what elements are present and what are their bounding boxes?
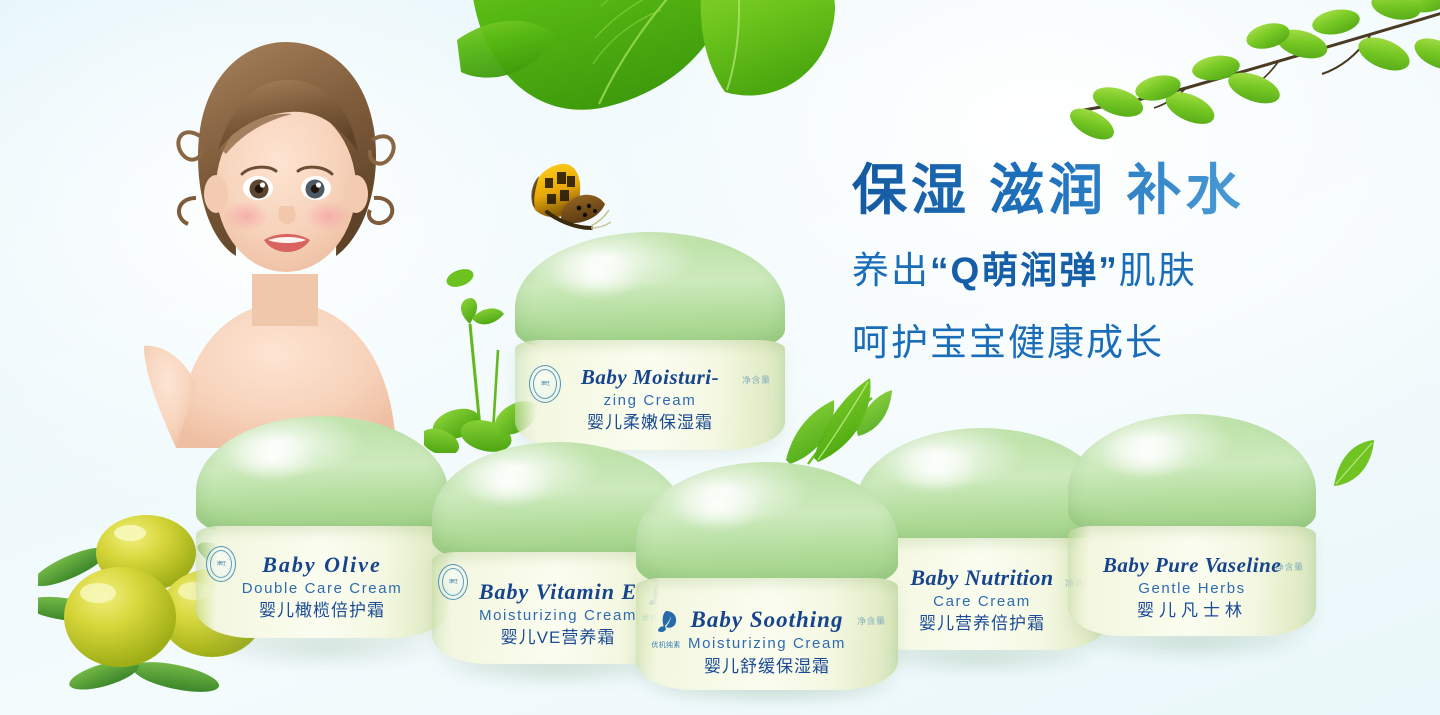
lid-highlight: [226, 432, 318, 482]
product-en-sub: Double Care Cream: [196, 581, 448, 598]
product-jar-baby-soothing[interactable]: 优机纯素 净含量 Baby Soothing Moisturizing Crea…: [636, 462, 898, 690]
product-en-sub: zing Cream: [515, 393, 785, 410]
jar-label: Baby Soothing Moisturizing Cream 婴儿舒缓保湿霜: [636, 607, 898, 676]
subline-2: 呵护宝宝健康成长: [852, 312, 1412, 366]
product-cn-name: 婴儿橄榄倍护霜: [196, 601, 448, 620]
product-en-name: Baby Soothing: [636, 607, 898, 633]
jar-label: Baby Olive Double Care Cream 婴儿橄榄倍护霜: [196, 553, 448, 620]
product-cn-name: 婴儿舒缓保湿霜: [636, 657, 898, 676]
lid-highlight: [549, 248, 645, 300]
product-en-sub: Gentle Herbs: [1068, 581, 1316, 598]
butterfly-icon: [517, 158, 613, 242]
product-promo-banner: 津旺 净含量 Baby Moisturi- zing Cream 婴儿柔嫩保湿霜…: [0, 0, 1440, 715]
product-jar-baby-olive[interactable]: 津旺 Baby Olive Double Care Cream 婴儿橄榄倍护霜: [196, 416, 448, 638]
jar-label: Baby Pure Vaseline Gentle Herbs 婴儿凡士林: [1068, 554, 1316, 620]
subline-1-prefix: 养出: [852, 250, 930, 291]
lid-highlight: [670, 480, 766, 532]
subline-1-suffix: 肌肤: [1119, 250, 1197, 291]
mint-leaf-cluster: [395, 0, 835, 150]
product-en-name: Baby Moisturi-: [515, 366, 785, 390]
subline-1-quoted: “Q萌润弹”: [930, 250, 1119, 291]
product-en-name: Baby Olive: [196, 553, 448, 578]
jar-lid: [196, 416, 448, 538]
jar-label: Baby Moisturi- zing Cream 婴儿柔嫩保湿霜: [515, 366, 785, 432]
lid-highlight: [462, 458, 554, 508]
product-jar-baby-pure-vaseline[interactable]: 净含量 Baby Pure Vaseline Gentle Herbs 婴儿凡士…: [1068, 414, 1316, 636]
jar-lid: [636, 462, 898, 590]
page-title: 保湿 滋润 补水: [852, 160, 1412, 222]
baby-photo: [140, 28, 430, 448]
lid-highlight: [1100, 430, 1192, 480]
product-jar-baby-moisturizing[interactable]: 津旺 净含量 Baby Moisturi- zing Cream 婴儿柔嫩保湿霜: [515, 232, 785, 450]
subline-1: 养出“Q萌润弹”肌肤: [852, 240, 1412, 294]
product-en-sub: Moisturizing Cream: [636, 636, 898, 653]
jar-lid: [1068, 414, 1316, 538]
product-cn-name: 婴儿柔嫩保湿霜: [515, 413, 785, 432]
jar-lid: [515, 232, 785, 354]
product-en-name: Baby Pure Vaseline: [1068, 554, 1316, 578]
promo-copy: 保湿 滋润 补水 养出“Q萌润弹”肌肤 呵护宝宝健康成长: [852, 160, 1412, 366]
product-cn-name: 婴儿凡士林: [1068, 601, 1316, 620]
leaf-sprig: [1330, 440, 1376, 490]
beech-branch: [1040, 0, 1440, 142]
lid-highlight: [890, 444, 982, 494]
